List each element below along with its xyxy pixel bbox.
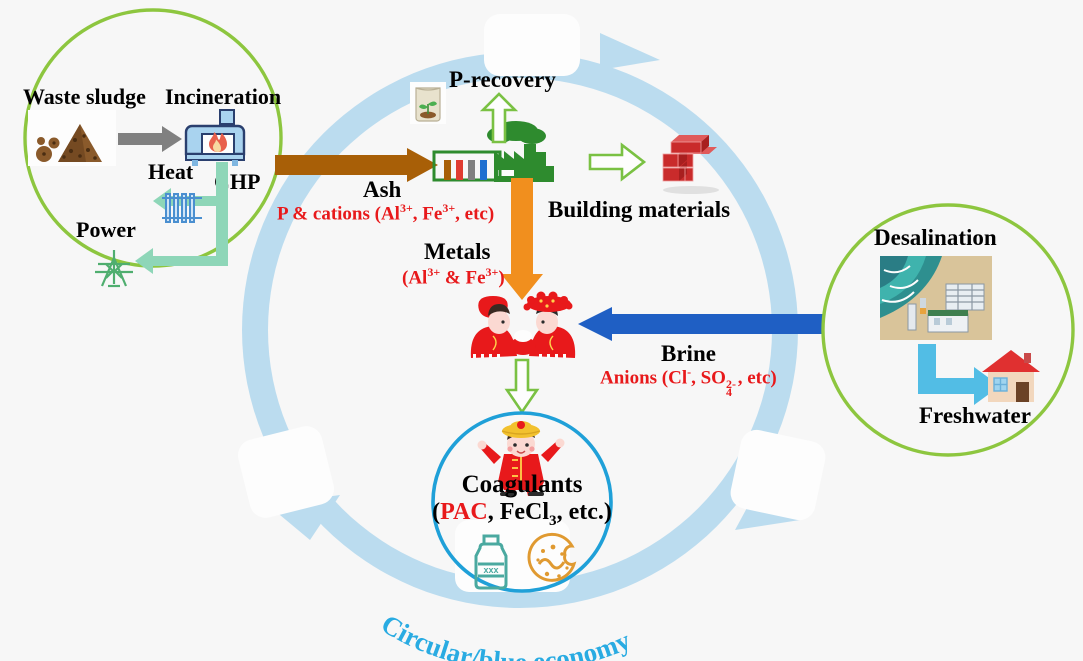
house-icon — [980, 348, 1042, 404]
ash-chemistry-label: P & cations (Al3+, Fe3+, etc) — [277, 202, 494, 224]
metals-chem-part-1: (Al — [402, 267, 427, 288]
chemical-bottle-icon: xxx — [468, 534, 514, 590]
brine-chem-prefix: Anions (Cl — [600, 367, 687, 388]
freshwater-label: Freshwater — [919, 404, 1031, 428]
fertilizer-bag-icon — [408, 80, 448, 126]
ash-chem-part-2: , Fe — [413, 203, 443, 224]
metals-chem-part-2: & Fe — [440, 267, 485, 288]
p-recovery-arrow — [479, 92, 519, 142]
circular-economy-caption: Circular/blue economy — [376, 608, 635, 661]
radiator-icon — [158, 190, 206, 226]
ash-label: Ash — [363, 178, 401, 202]
coagulants-title: Coagulants — [462, 472, 583, 498]
brine-chem-mid: , SO — [691, 367, 726, 388]
diagram-canvas: Circular/blue economy Waste sludge Incin… — [0, 0, 1083, 661]
desalination-plant-photo-icon — [880, 256, 992, 340]
power-pylon-icon — [92, 248, 136, 288]
coagulants-arrow — [505, 360, 539, 414]
formula-close: , etc.) — [557, 499, 612, 525]
metals-chemistry-label: (Al3+ & Fe3+) — [402, 266, 505, 288]
svg-text:Circular/blue economy: Circular/blue economy — [376, 608, 635, 661]
brine-chem-sub: 4 — [726, 386, 732, 399]
metals-chem-sup-1: 3+ — [427, 265, 440, 279]
wedding-couple-icon — [463, 292, 583, 362]
ash-chem-part-1: P & cations (Al — [277, 203, 400, 224]
building-materials-label: Building materials — [548, 198, 730, 222]
ash-chem-part-3: , etc) — [455, 203, 494, 224]
ash-chem-sup-1: 3+ — [400, 201, 413, 215]
brine-arrow — [578, 307, 823, 341]
brick-wall-icon — [655, 132, 725, 194]
formula-pac: PAC — [440, 499, 488, 525]
brine-chem-suffix: , etc) — [738, 367, 777, 388]
coagulants-formula: (PAC, FeCl3, etc.) — [432, 500, 612, 530]
desalination-label: Desalination — [874, 226, 997, 250]
metals-chem-sup-2: 3+ — [486, 265, 499, 279]
svg-text:xxx: xxx — [483, 565, 498, 575]
incineration-label: Incineration — [165, 85, 281, 108]
incinerator-icon — [182, 108, 252, 168]
floc-particle-icon — [526, 534, 580, 588]
formula-open-paren: ( — [432, 499, 440, 525]
metals-chem-part-3: ) — [498, 267, 504, 288]
ash-chem-sup-2: 3+ — [442, 201, 455, 215]
brine-label: Brine — [661, 342, 716, 366]
waste-sludge-label: Waste sludge — [23, 85, 146, 108]
metals-arrow — [500, 178, 544, 302]
p-recovery-label: P-recovery — [449, 68, 556, 92]
formula-fecl: , FeCl — [488, 499, 549, 525]
metals-label: Metals — [424, 240, 490, 264]
brine-chemistry-label: Anions (Cl-, SO 2- 4 , etc) — [600, 366, 777, 388]
building-materials-arrow — [590, 142, 646, 182]
sludge-pile-icon — [28, 110, 116, 166]
sludge-to-incineration-arrow — [118, 124, 184, 154]
ash-arrow — [275, 148, 440, 182]
power-label: Power — [76, 218, 136, 241]
